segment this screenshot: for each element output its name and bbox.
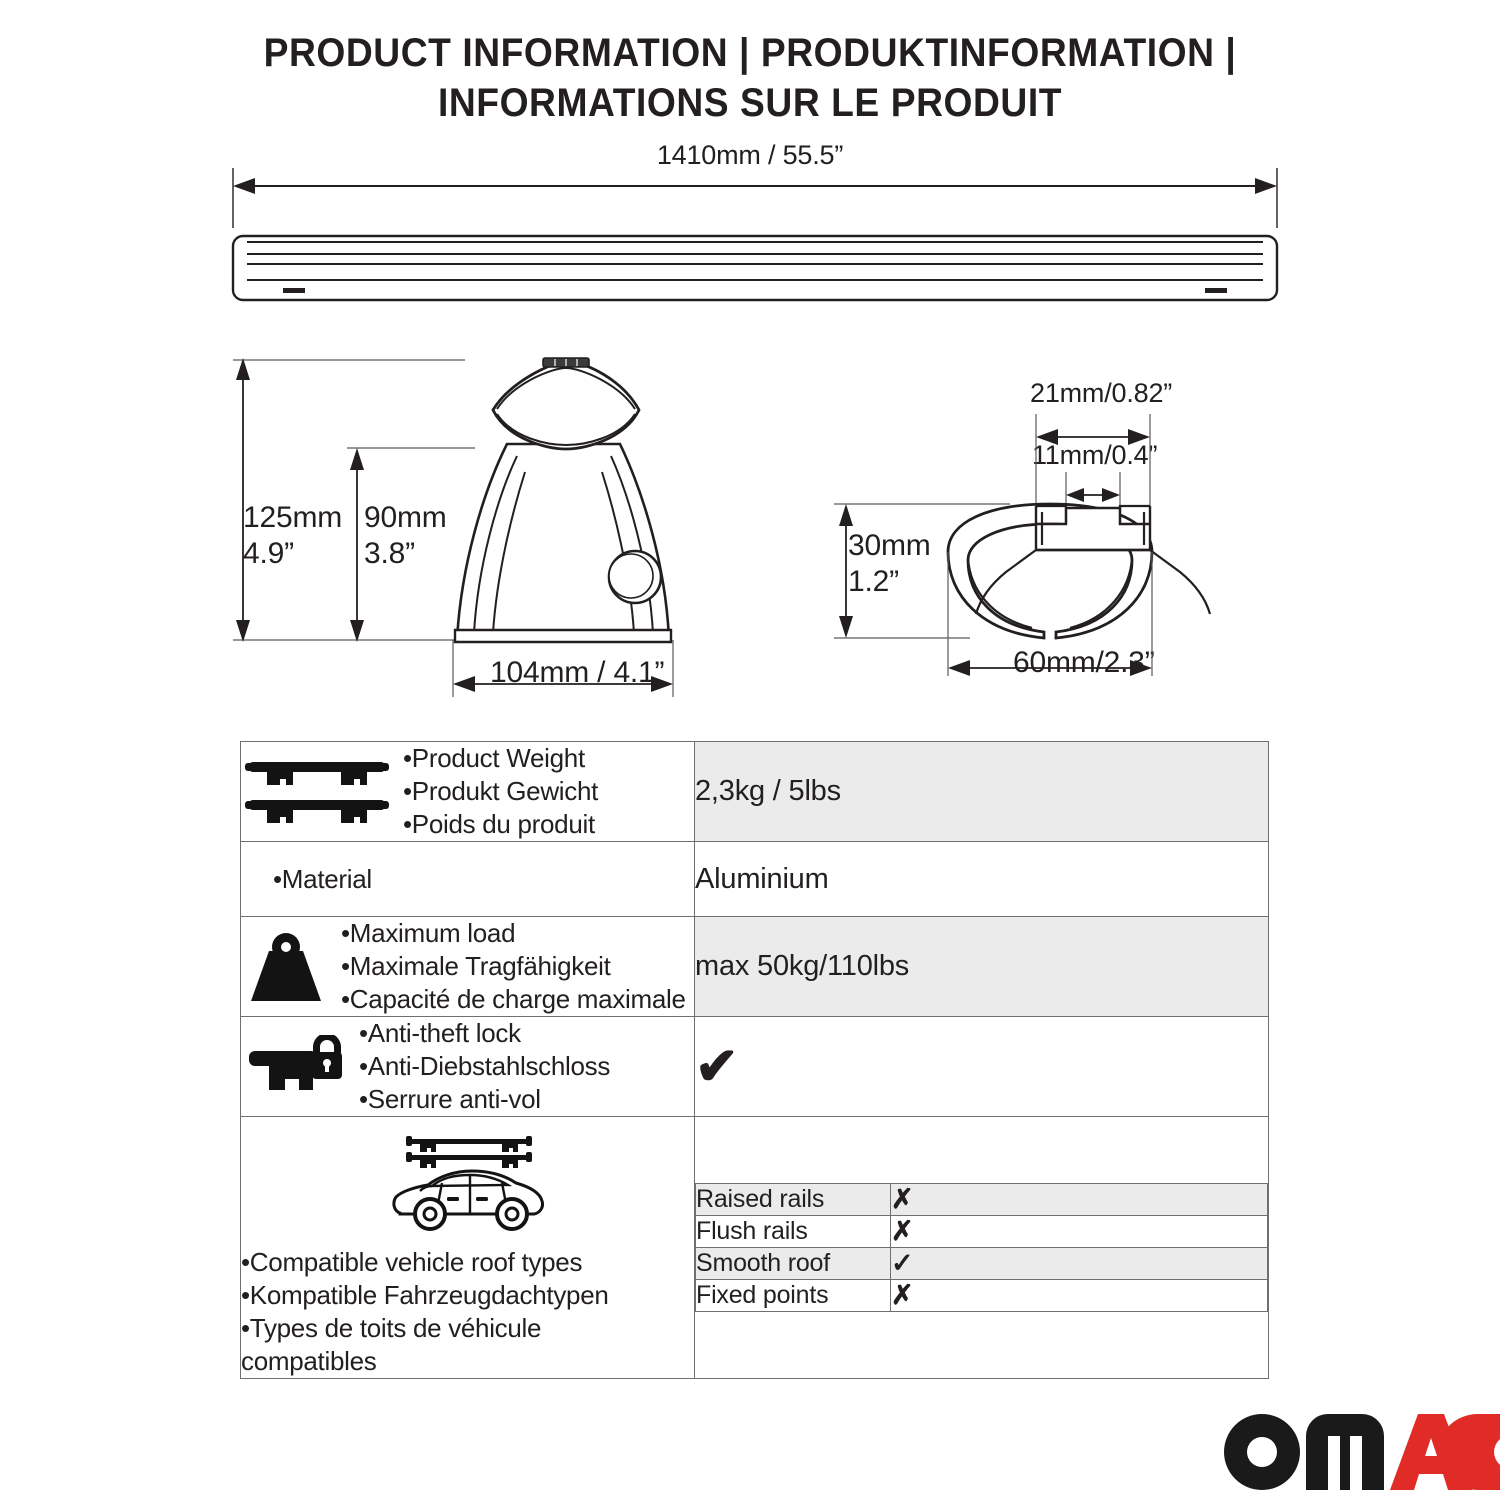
roof-type-row-smooth-roof: Smooth roof ✓ <box>696 1248 1268 1280</box>
table-row-vehicle-roof-types: •Compatible vehicle roof types •Kompatib… <box>241 1117 1269 1379</box>
label-fr: •Poids du produit <box>403 809 595 839</box>
lock-icon <box>241 1035 349 1099</box>
crossbar-top-view-diagram <box>225 168 1285 318</box>
page-title: PRODUCT INFORMATION | PRODUKTINFORMATION… <box>0 28 1500 128</box>
product-weight-labels: •Product Weight •Produkt Gewicht •Poids … <box>403 742 598 841</box>
roof-type-mark-cross-icon: ✗ <box>891 1216 1268 1248</box>
table-row-material: •Material Aluminium <box>241 842 1269 917</box>
roof-type-mark-cross-icon: ✗ <box>891 1280 1268 1312</box>
roof-types-table: Raised rails ✗ Flush rails ✗ Smooth roof… <box>695 1183 1268 1312</box>
label-de: •Maximale Tragfähigkeit <box>341 951 611 981</box>
material-label-cell: •Material <box>241 842 695 917</box>
table-row-product-weight: •Product Weight •Produkt Gewicht •Poids … <box>241 742 1269 842</box>
label-en: •Product Weight <box>403 743 585 773</box>
roof-type-mark-check-icon: ✓ <box>891 1248 1268 1280</box>
page-title-line-2: INFORMATIONS SUR LE PRODUIT <box>53 78 1448 128</box>
label-en: •Compatible vehicle roof types <box>241 1247 582 1277</box>
label-fr: •Capacité de charge maximale <box>341 984 686 1014</box>
roof-type-name: Flush rails <box>696 1216 891 1248</box>
table-row-maximum-load: •Maximum load •Maximale Tragfähigkeit •C… <box>241 917 1269 1017</box>
vehicle-roof-types-label-cell: •Compatible vehicle roof types •Kompatib… <box>241 1117 695 1379</box>
label-fr: •Types de toits de véhicule <box>241 1313 541 1343</box>
maximum-load-value: max 50kg/110lbs <box>695 917 1269 1017</box>
bar-length-label: 1410mm / 55.5” <box>0 140 1500 171</box>
roof-type-name: Smooth roof <box>696 1248 891 1280</box>
roof-type-row-flush-rails: Flush rails ✗ <box>696 1216 1268 1248</box>
table-row-anti-theft-lock: •Anti-theft lock •Anti-Diebstahlschloss … <box>241 1017 1269 1117</box>
label-en: •Material <box>273 864 372 894</box>
weight-icon <box>241 929 331 1005</box>
material-value: Aluminium <box>695 842 1269 917</box>
omac-logo <box>1222 1412 1500 1497</box>
crossbars-icon <box>241 756 393 828</box>
label-en: •Anti-theft lock <box>359 1018 521 1048</box>
maximum-load-label-cell: •Maximum load •Maximale Tragfähigkeit •C… <box>241 917 695 1017</box>
label-de: •Produkt Gewicht <box>403 776 598 806</box>
anti-theft-lock-value: ✔ <box>695 1017 1269 1117</box>
roof-types-matrix-cell: Raised rails ✗ Flush rails ✗ Smooth roof… <box>695 1117 1269 1379</box>
anti-theft-lock-label-cell: •Anti-theft lock •Anti-Diebstahlschloss … <box>241 1017 695 1117</box>
check-mark-icon: ✔ <box>695 1038 738 1096</box>
maximum-load-labels: •Maximum load •Maximale Tragfähigkeit •C… <box>341 917 686 1016</box>
crossbar-foot-side-view-diagram <box>225 352 705 707</box>
roof-type-name: Fixed points <box>696 1280 891 1312</box>
page-title-line-1: PRODUCT INFORMATION | PRODUKTINFORMATION… <box>53 28 1448 78</box>
product-weight-value: 2,3kg / 5lbs <box>695 742 1269 842</box>
material-labels: •Material <box>273 863 372 896</box>
roof-type-name: Raised rails <box>696 1184 891 1216</box>
car-with-rack-icon <box>384 1131 552 1240</box>
product-weight-label-cell: •Product Weight •Produkt Gewicht •Poids … <box>241 742 695 842</box>
crossbar-profile-cross-section-diagram <box>820 400 1280 705</box>
roof-type-mark-cross-icon: ✗ <box>891 1184 1268 1216</box>
product-spec-table: •Product Weight •Produkt Gewicht •Poids … <box>240 741 1269 1379</box>
label-en: •Maximum load <box>341 918 515 948</box>
label-fr-cont: compatibles <box>241 1346 376 1376</box>
roof-type-row-raised-rails: Raised rails ✗ <box>696 1184 1268 1216</box>
roof-type-row-fixed-points: Fixed points ✗ <box>696 1280 1268 1312</box>
label-fr: •Serrure anti-vol <box>359 1084 541 1114</box>
label-de: •Kompatible Fahrzeugdachtypen <box>241 1280 609 1310</box>
anti-theft-lock-labels: •Anti-theft lock •Anti-Diebstahlschloss … <box>359 1017 610 1116</box>
label-de: •Anti-Diebstahlschloss <box>359 1051 610 1081</box>
vehicle-roof-types-labels: •Compatible vehicle roof types •Kompatib… <box>241 1246 609 1378</box>
